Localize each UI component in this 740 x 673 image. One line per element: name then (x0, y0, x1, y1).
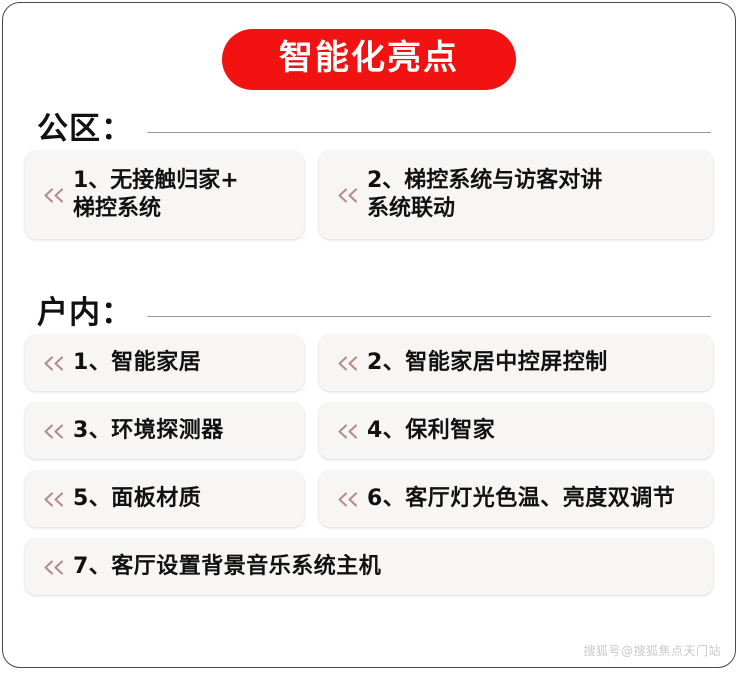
list-item-label: 1、无接触归家+梯控系统 (73, 167, 239, 222)
double-chevron-left-icon (41, 491, 67, 508)
section-heading-label: 公区： (37, 114, 133, 145)
list-item[interactable]: 5、面板材质 (25, 471, 304, 527)
title-banner-wrap: 智能化亮点 (3, 29, 735, 90)
card-row: 3、环境探测器 4、保利智家 (25, 403, 713, 459)
section-heading-indoor: 户内： (3, 291, 735, 335)
card-row: 7、客厅设置背景音乐系统主机 (25, 539, 713, 595)
double-chevron-left-icon (41, 187, 67, 204)
double-chevron-left-icon (335, 355, 361, 372)
title-banner: 智能化亮点 (222, 29, 516, 90)
double-chevron-left-icon (335, 423, 361, 440)
list-item[interactable]: 4、保利智家 (319, 403, 713, 459)
section-indoor: 户内： 1、智能家居 2、智能家居中控屏控制 (3, 291, 735, 607)
public-area-card-list: 1、无接触归家+梯控系统 2、梯控系统与访客对讲系统联动 (3, 151, 735, 239)
section-divider-rule (147, 316, 711, 317)
double-chevron-left-icon (41, 423, 67, 440)
list-item-label: 2、智能家居中控屏控制 (367, 349, 608, 377)
list-item-label: 7、客厅设置背景音乐系统主机 (73, 553, 381, 581)
card-row: 1、无接触归家+梯控系统 2、梯控系统与访客对讲系统联动 (25, 151, 713, 239)
double-chevron-left-icon (41, 355, 67, 372)
list-item-label: 4、保利智家 (367, 417, 495, 445)
section-divider-rule (147, 132, 711, 133)
double-chevron-left-icon (335, 187, 361, 204)
content-panel: 智能化亮点 公区： 1、无接触归家+梯控系统 2、梯控系统与访 (2, 2, 736, 668)
list-item-label: 6、客厅灯光色温、亮度双调节 (367, 485, 675, 513)
list-item-label: 1、智能家居 (73, 349, 201, 377)
page-title: 智能化亮点 (279, 38, 459, 78)
card-row: 5、面板材质 6、客厅灯光色温、亮度双调节 (25, 471, 713, 527)
list-item[interactable]: 3、环境探测器 (25, 403, 304, 459)
list-item[interactable]: 2、智能家居中控屏控制 (319, 335, 713, 391)
list-item-label: 5、面板材质 (73, 485, 201, 513)
section-heading-label: 户内： (37, 298, 133, 329)
indoor-card-list: 1、智能家居 2、智能家居中控屏控制 3、环境探测器 (3, 335, 735, 595)
section-public-area: 公区： 1、无接触归家+梯控系统 2、梯控系统与访客对讲系统联动 (3, 107, 735, 251)
double-chevron-left-icon (41, 559, 67, 576)
list-item[interactable]: 1、无接触归家+梯控系统 (25, 151, 304, 239)
list-item[interactable]: 2、梯控系统与访客对讲系统联动 (319, 151, 713, 239)
list-item[interactable]: 6、客厅灯光色温、亮度双调节 (319, 471, 713, 527)
list-item-label: 3、环境探测器 (73, 417, 224, 445)
list-item[interactable]: 1、智能家居 (25, 335, 304, 391)
list-item-label: 2、梯控系统与访客对讲系统联动 (367, 167, 602, 222)
watermark: 搜狐号@搜狐焦点天门站 (583, 642, 721, 659)
card-row: 1、智能家居 2、智能家居中控屏控制 (25, 335, 713, 391)
list-item[interactable]: 7、客厅设置背景音乐系统主机 (25, 539, 713, 595)
double-chevron-left-icon (335, 491, 361, 508)
section-heading-public-area: 公区： (3, 107, 735, 151)
